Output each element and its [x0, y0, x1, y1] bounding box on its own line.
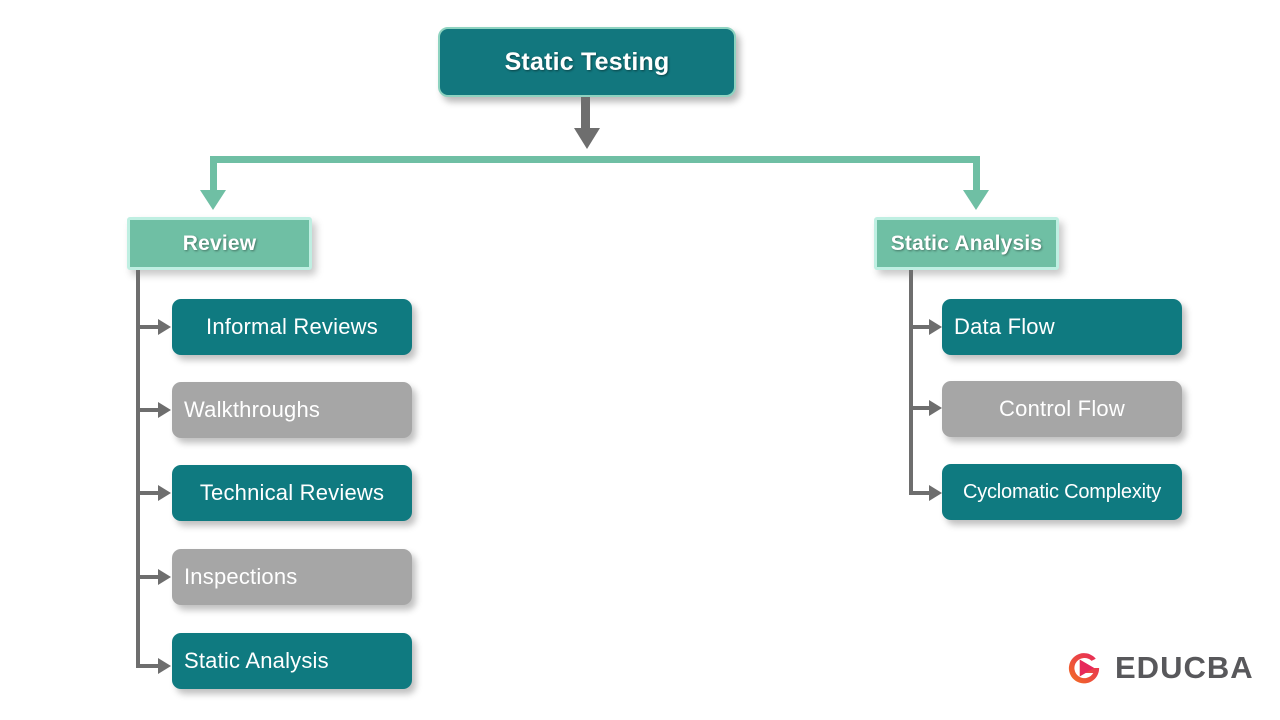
node-static-analysis-leaf[interactable]: Static Analysis: [172, 633, 412, 689]
connector-analysis-stub-3: [909, 491, 931, 495]
connector-root-stem: [581, 97, 590, 130]
node-technical-reviews[interactable]: Technical Reviews: [172, 465, 412, 521]
diagram-canvas: Static Testing Review Informal Reviews W…: [0, 0, 1280, 720]
educba-wordmark: EDUCBA: [1115, 650, 1254, 686]
connector-review-stub-4: [136, 575, 160, 579]
node-informal-reviews[interactable]: Informal Reviews: [172, 299, 412, 355]
node-label: Cyclomatic Complexity: [963, 481, 1161, 504]
node-label: Walkthroughs: [184, 397, 320, 423]
arrow-review-3-icon: [158, 485, 171, 501]
node-static-analysis[interactable]: Static Analysis: [874, 217, 1059, 270]
connector-analysis-stub-1: [909, 325, 931, 329]
node-walkthroughs[interactable]: Walkthroughs: [172, 382, 412, 438]
connector-left-drop: [210, 156, 217, 192]
arrow-analysis-1-icon: [929, 319, 942, 335]
connector-analysis-stub-2: [909, 406, 931, 410]
node-label: Static Analysis: [891, 232, 1043, 256]
connector-review-stub-5: [136, 664, 160, 668]
connector-distribution-bar: [210, 156, 980, 163]
node-review[interactable]: Review: [127, 217, 312, 270]
arrow-review-2-icon: [158, 402, 171, 418]
arrow-root-down-icon: [574, 128, 600, 149]
arrow-left-down-icon: [200, 190, 226, 210]
educba-mark-icon: [1063, 647, 1105, 689]
node-label: Control Flow: [999, 396, 1125, 422]
connector-analysis-spine: [909, 270, 913, 495]
connector-review-spine: [136, 270, 140, 668]
node-inspections[interactable]: Inspections: [172, 549, 412, 605]
node-cyclomatic-complexity[interactable]: Cyclomatic Complexity: [942, 464, 1182, 520]
arrow-review-1-icon: [158, 319, 171, 335]
arrow-analysis-3-icon: [929, 485, 942, 501]
arrow-review-5-icon: [158, 658, 171, 674]
connector-right-drop: [973, 156, 980, 192]
node-label: Data Flow: [954, 314, 1055, 340]
node-label: Review: [183, 232, 257, 256]
node-static-testing[interactable]: Static Testing: [438, 27, 736, 97]
node-label: Static Analysis: [184, 648, 329, 674]
connector-review-stub-3: [136, 491, 160, 495]
node-label: Informal Reviews: [206, 314, 378, 340]
arrow-analysis-2-icon: [929, 400, 942, 416]
arrow-review-4-icon: [158, 569, 171, 585]
node-control-flow[interactable]: Control Flow: [942, 381, 1182, 437]
node-data-flow[interactable]: Data Flow: [942, 299, 1182, 355]
connector-review-stub-2: [136, 408, 160, 412]
educba-logo: EDUCBA: [1063, 647, 1254, 689]
arrow-right-down-icon: [963, 190, 989, 210]
node-label: Technical Reviews: [200, 480, 384, 506]
node-label: Static Testing: [505, 48, 670, 77]
connector-review-stub-1: [136, 325, 160, 329]
node-label: Inspections: [184, 564, 298, 590]
